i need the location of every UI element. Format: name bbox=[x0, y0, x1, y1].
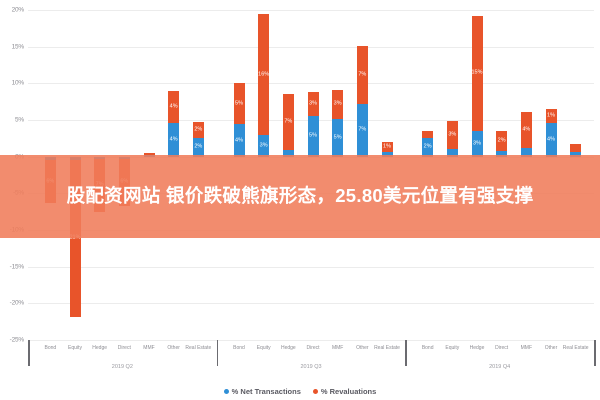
bar-segment[interactable]: 7% bbox=[357, 104, 368, 157]
bar-segment[interactable]: 2% bbox=[193, 122, 204, 137]
bar-segment[interactable]: 3% bbox=[472, 131, 483, 157]
bar-segment[interactable]: 1% bbox=[546, 109, 557, 123]
legend-swatch-revaluations bbox=[313, 389, 318, 394]
promo-overlay-banner: 股配资网站 银价跌破熊旗形态，25.80美元位置有强支撑 bbox=[0, 155, 600, 238]
bar-segment[interactable]: 2% bbox=[496, 131, 507, 151]
legend-label-revaluations: % Revaluations bbox=[321, 387, 376, 396]
bar-value-label: 5% bbox=[332, 135, 343, 141]
chart-screenshot: 6%21%7%6%4%4%2%2%4%5%3%16%7%5%3%5%3%7%7%… bbox=[0, 0, 600, 400]
bar-value-label: 4% bbox=[234, 138, 245, 144]
bar-value-label: 2% bbox=[422, 144, 433, 150]
bar-segment[interactable]: 4% bbox=[168, 91, 179, 123]
bar-value-label: 3% bbox=[472, 141, 483, 147]
bar-segment[interactable]: 7% bbox=[283, 94, 294, 150]
bar-segment[interactable]: 2% bbox=[193, 138, 204, 157]
bar-segment[interactable]: 15% bbox=[472, 16, 483, 131]
group-label: 2019 Q2 bbox=[112, 364, 133, 370]
bar-value-label: 7% bbox=[357, 72, 368, 78]
legend-swatch-net-transactions bbox=[224, 389, 229, 394]
bar-segment[interactable]: 5% bbox=[308, 116, 319, 157]
group-label: 2019 Q4 bbox=[489, 364, 510, 370]
legend-item-net-transactions: % Net Transactions bbox=[224, 387, 301, 396]
y-axis-tick: 5% bbox=[0, 117, 24, 124]
bar-value-label: 4% bbox=[168, 104, 179, 110]
x-axis-tick: Real Estate bbox=[370, 346, 404, 352]
legend-label-net-transactions: % Net Transactions bbox=[232, 387, 301, 396]
bar-segment[interactable]: 4% bbox=[546, 123, 557, 157]
bar-segment[interactable]: 16% bbox=[258, 14, 269, 134]
x-axis-tick: Real Estate bbox=[181, 346, 215, 352]
x-axis-tick: Real Estate bbox=[559, 346, 593, 352]
y-axis-tick: 15% bbox=[0, 43, 24, 50]
bar-segment[interactable] bbox=[422, 131, 433, 138]
bar-value-label: 5% bbox=[234, 101, 245, 107]
bar-value-label: 7% bbox=[357, 128, 368, 134]
bar-segment[interactable]: 5% bbox=[332, 119, 343, 157]
bar-segment[interactable]: 4% bbox=[521, 112, 532, 148]
bar-value-label: 3% bbox=[447, 133, 458, 139]
bar-segment[interactable]: 3% bbox=[447, 121, 458, 149]
bar-value-label: 1% bbox=[546, 113, 557, 119]
y-axis-tick: -20% bbox=[0, 300, 24, 307]
bar-segment[interactable]: 2% bbox=[422, 138, 433, 157]
bar-value-label: 5% bbox=[308, 133, 319, 139]
bar-segment[interactable]: 7% bbox=[357, 46, 368, 104]
group-separator bbox=[28, 340, 30, 366]
bar-segment[interactable]: 3% bbox=[332, 90, 343, 119]
bar-value-label: 3% bbox=[332, 101, 343, 107]
y-axis-tick: 10% bbox=[0, 80, 24, 87]
group-separator bbox=[405, 340, 407, 366]
bar-value-label: 4% bbox=[546, 137, 557, 143]
bar-value-label: 3% bbox=[258, 143, 269, 149]
bar-value-label: 7% bbox=[283, 119, 294, 125]
bar-segment[interactable]: 4% bbox=[234, 124, 245, 156]
bar-segment[interactable]: 3% bbox=[258, 135, 269, 157]
bar-value-label: 4% bbox=[521, 127, 532, 133]
group-label: 2019 Q3 bbox=[300, 364, 321, 370]
y-axis-tick: -15% bbox=[0, 263, 24, 270]
bar-value-label: 3% bbox=[308, 101, 319, 107]
bar-value-label: 4% bbox=[168, 137, 179, 143]
bar-value-label: 2% bbox=[193, 127, 204, 133]
bar-segment[interactable]: 5% bbox=[234, 83, 245, 124]
bar-value-label: 2% bbox=[496, 138, 507, 144]
bar-value-label: 15% bbox=[472, 71, 483, 77]
bar-segment[interactable] bbox=[570, 144, 581, 152]
bar-segment[interactable]: 3% bbox=[308, 92, 319, 115]
legend-item-revaluations: % Revaluations bbox=[313, 387, 376, 396]
bar-segment[interactable]: 1% bbox=[382, 142, 393, 152]
group-separator bbox=[594, 340, 596, 366]
bar-value-label: 2% bbox=[193, 144, 204, 150]
y-axis-tick: -25% bbox=[0, 337, 24, 344]
group-separator bbox=[217, 340, 219, 366]
bar-value-label: 1% bbox=[382, 144, 393, 150]
gridline bbox=[28, 340, 594, 341]
bar-value-label: 16% bbox=[258, 72, 269, 78]
bar-segment[interactable]: 4% bbox=[168, 123, 179, 157]
overlay-headline: 股配资网站 银价跌破熊旗形态，25.80美元位置有强支撑 bbox=[20, 183, 580, 210]
chart-legend: % Net Transactions % Revaluations bbox=[0, 387, 600, 396]
y-axis-tick: 20% bbox=[0, 7, 24, 14]
